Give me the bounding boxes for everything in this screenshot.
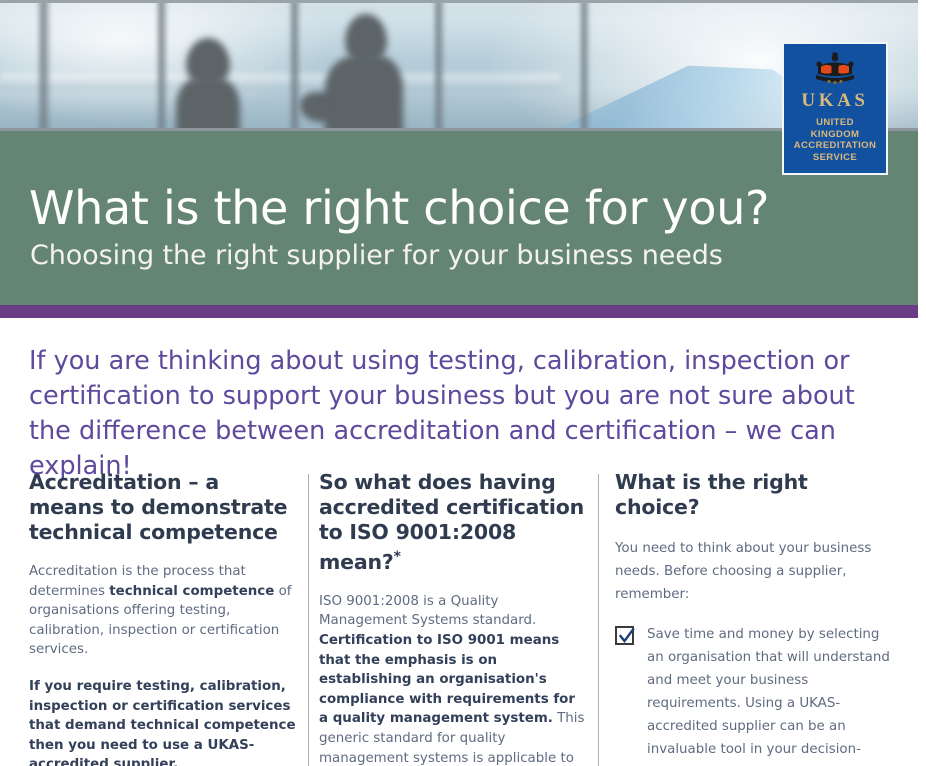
banner-sea-band xyxy=(0,74,560,90)
body-paragraph: You need to think about your business ne… xyxy=(615,537,895,606)
logo-subtitle-line: KINGDOM xyxy=(794,129,876,141)
emphasised-text: Certification to ISO 9001 means that the… xyxy=(319,633,575,726)
plain-text: You need to think about your business ne… xyxy=(615,541,871,602)
body-paragraph: Accreditation is the process that determ… xyxy=(29,562,297,660)
column-heading: So what does having accredited certifica… xyxy=(319,470,585,575)
column-heading: What is the right choice? xyxy=(615,470,895,520)
crown-icon xyxy=(811,52,859,86)
document-page: UKAS UNITED KINGDOM ACCREDITATION SERVIC… xyxy=(0,0,926,766)
checklist: Save time and money by selecting an orga… xyxy=(615,623,895,766)
column-body: ISO 9001:2008 is a Quality Management Sy… xyxy=(319,592,585,766)
window-mullion xyxy=(578,0,591,131)
window-mullion xyxy=(155,0,169,131)
column-body: Accreditation is the process that determ… xyxy=(29,562,297,766)
column-right-choice: What is the right choice? You need to th… xyxy=(615,470,895,766)
title-band: What is the right choice for you? Choosi… xyxy=(0,131,918,305)
checklist-item[interactable]: Save time and money by selecting an orga… xyxy=(615,623,895,766)
column-divider xyxy=(308,474,309,766)
footnote-asterisk: * xyxy=(394,549,401,565)
logo-subtitle-line: ACCREDITATION xyxy=(794,140,876,152)
silhouette-figure-standing xyxy=(325,56,403,131)
three-column-body: Accreditation – a means to demonstrate t… xyxy=(0,470,918,766)
header-banner-image xyxy=(0,0,918,131)
window-mullion xyxy=(432,0,446,131)
column-accreditation: Accreditation – a means to demonstrate t… xyxy=(29,470,297,766)
column-body: You need to think about your business ne… xyxy=(615,537,895,606)
silhouette-figure-seated xyxy=(176,78,240,131)
checklist-item-text: Save time and money by selecting an orga… xyxy=(647,623,895,766)
check-mark-icon xyxy=(618,628,635,645)
banner-top-rule xyxy=(0,0,918,3)
column-heading: Accreditation – a means to demonstrate t… xyxy=(29,470,297,545)
plain-text: ISO 9001:2008 is a Quality Management Sy… xyxy=(319,594,536,629)
logo-subtitle-line: UNITED xyxy=(794,117,876,129)
column-iso9001: So what does having accredited certifica… xyxy=(319,470,585,766)
body-paragraph: If you require testing, calibration, ins… xyxy=(29,677,297,766)
window-mullion xyxy=(288,0,302,131)
intro-paragraph: If you are thinking about using testing,… xyxy=(29,344,895,484)
emphasised-text: technical competence xyxy=(109,584,274,599)
column-divider xyxy=(598,474,599,766)
body-paragraph: ISO 9001:2008 is a Quality Management Sy… xyxy=(319,592,585,766)
purple-divider-rule xyxy=(0,305,918,318)
checkbox-checked-icon[interactable] xyxy=(615,626,634,645)
ukas-logo: UKAS UNITED KINGDOM ACCREDITATION SERVIC… xyxy=(782,42,888,175)
emphasised-text: If you require testing, calibration, ins… xyxy=(29,679,296,766)
logo-subtitle-line: SERVICE xyxy=(794,152,876,164)
window-mullion xyxy=(36,0,52,131)
logo-acronym: UKAS xyxy=(801,90,868,112)
page-subtitle: Choosing the right supplier for your bus… xyxy=(30,240,723,271)
page-title: What is the right choice for you? xyxy=(29,181,769,235)
logo-subtitle: UNITED KINGDOM ACCREDITATION SERVICE xyxy=(794,117,876,163)
